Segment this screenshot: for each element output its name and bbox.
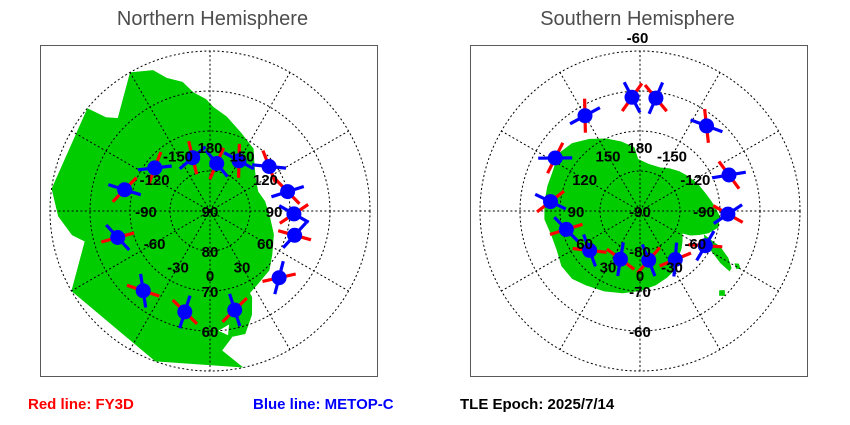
longitude-tick-label: 120 xyxy=(253,172,278,189)
satellite-node-marker xyxy=(287,228,302,243)
latitude-tick-label: 60 xyxy=(202,324,219,341)
satellite-node-marker xyxy=(286,206,301,221)
pole-center-label: -90 xyxy=(629,204,651,221)
satellite-node-marker xyxy=(543,194,558,209)
satellite-node-marker xyxy=(548,151,563,166)
longitude-tick-label: -90 xyxy=(693,204,715,221)
outer-latitude-label-south: -60 xyxy=(425,30,850,47)
satellite-node-marker xyxy=(699,118,714,133)
longitude-tick-label: 180 xyxy=(197,140,222,157)
page-title-north: Northern Hemisphere xyxy=(0,8,425,31)
longitude-tick-label: 60 xyxy=(576,236,593,253)
page-title-south: Southern Hemisphere xyxy=(425,8,850,31)
polar-plot-north: 807060900306090120150180-150-120-90-60-3… xyxy=(40,45,378,377)
longitude-tick-label: -30 xyxy=(661,259,683,276)
satellite-node-marker xyxy=(648,91,663,106)
longitude-tick-label: 150 xyxy=(229,149,254,166)
longitude-tick-label: -120 xyxy=(680,172,710,189)
satellite-node-marker xyxy=(110,230,125,245)
polar-chart-north-svg: 807060900306090120150180-150-120-90-60-3… xyxy=(41,46,378,377)
legend-red-line: Red line: FY3D xyxy=(28,396,134,413)
longitude-tick-label: -120 xyxy=(140,172,170,189)
longitude-tick-label: -90 xyxy=(135,204,157,221)
latitude-tick-label: 80 xyxy=(202,244,219,261)
satellite-node-marker xyxy=(578,108,593,123)
polar-chart-south-svg: -80-70-60-900306090120150180-150-120-90-… xyxy=(471,46,808,377)
satellite-node-marker xyxy=(625,90,640,105)
latitude-tick-label: -60 xyxy=(629,324,651,341)
satellite-node-marker xyxy=(280,184,295,199)
legend-bar: Red line: FY3D Blue line: METOP-C TLE Ep… xyxy=(0,390,850,425)
latitude-tick-label: 70 xyxy=(202,284,219,301)
satellite-node-marker xyxy=(559,222,574,237)
satellite-node-marker xyxy=(177,304,192,319)
longitude-tick-label: -60 xyxy=(144,236,166,253)
latitude-tick-label: -70 xyxy=(629,284,651,301)
satellite-node-marker xyxy=(722,168,737,183)
pole-center-label: 90 xyxy=(202,204,219,221)
satellite-node-marker xyxy=(209,156,224,171)
longitude-tick-label: 0 xyxy=(636,268,644,285)
screenshot-root: Northern Hemisphere 80706090030609012015… xyxy=(0,0,850,425)
polar-plot-south: -80-70-60-900306090120150180-150-120-90-… xyxy=(470,45,808,377)
longitude-tick-label: 30 xyxy=(600,259,617,276)
longitude-tick-label: 60 xyxy=(257,236,274,253)
satellite-node-marker xyxy=(136,283,151,298)
longitude-tick-label: 180 xyxy=(627,140,652,157)
latitude-tick-label: -80 xyxy=(629,244,651,261)
panel-northern-hemisphere: Northern Hemisphere 80706090030609012015… xyxy=(0,0,425,390)
longitude-tick-label: 30 xyxy=(234,259,251,276)
legend-blue-line: Blue line: METOP-C xyxy=(253,396,394,413)
longitude-tick-label: -150 xyxy=(657,149,687,166)
longitude-tick-label: -150 xyxy=(163,149,193,166)
longitude-tick-label: -30 xyxy=(167,259,189,276)
landmass xyxy=(719,290,725,296)
longitude-tick-label: 120 xyxy=(572,172,597,189)
satellite-node-marker xyxy=(720,207,735,222)
longitude-tick-label: 90 xyxy=(568,204,585,221)
longitude-tick-label: 90 xyxy=(266,204,283,221)
longitude-tick-label: 0 xyxy=(206,268,214,285)
longitude-tick-label: 150 xyxy=(595,149,620,166)
legend-tle-epoch: TLE Epoch: 2025/7/14 xyxy=(460,396,614,413)
panel-southern-hemisphere: Southern Hemisphere -80-70-60-9003060901… xyxy=(425,0,850,390)
satellite-node-marker xyxy=(272,270,287,285)
satellite-node-marker xyxy=(117,182,132,197)
longitude-tick-label: -60 xyxy=(685,236,707,253)
satellite-node-marker xyxy=(227,303,242,318)
